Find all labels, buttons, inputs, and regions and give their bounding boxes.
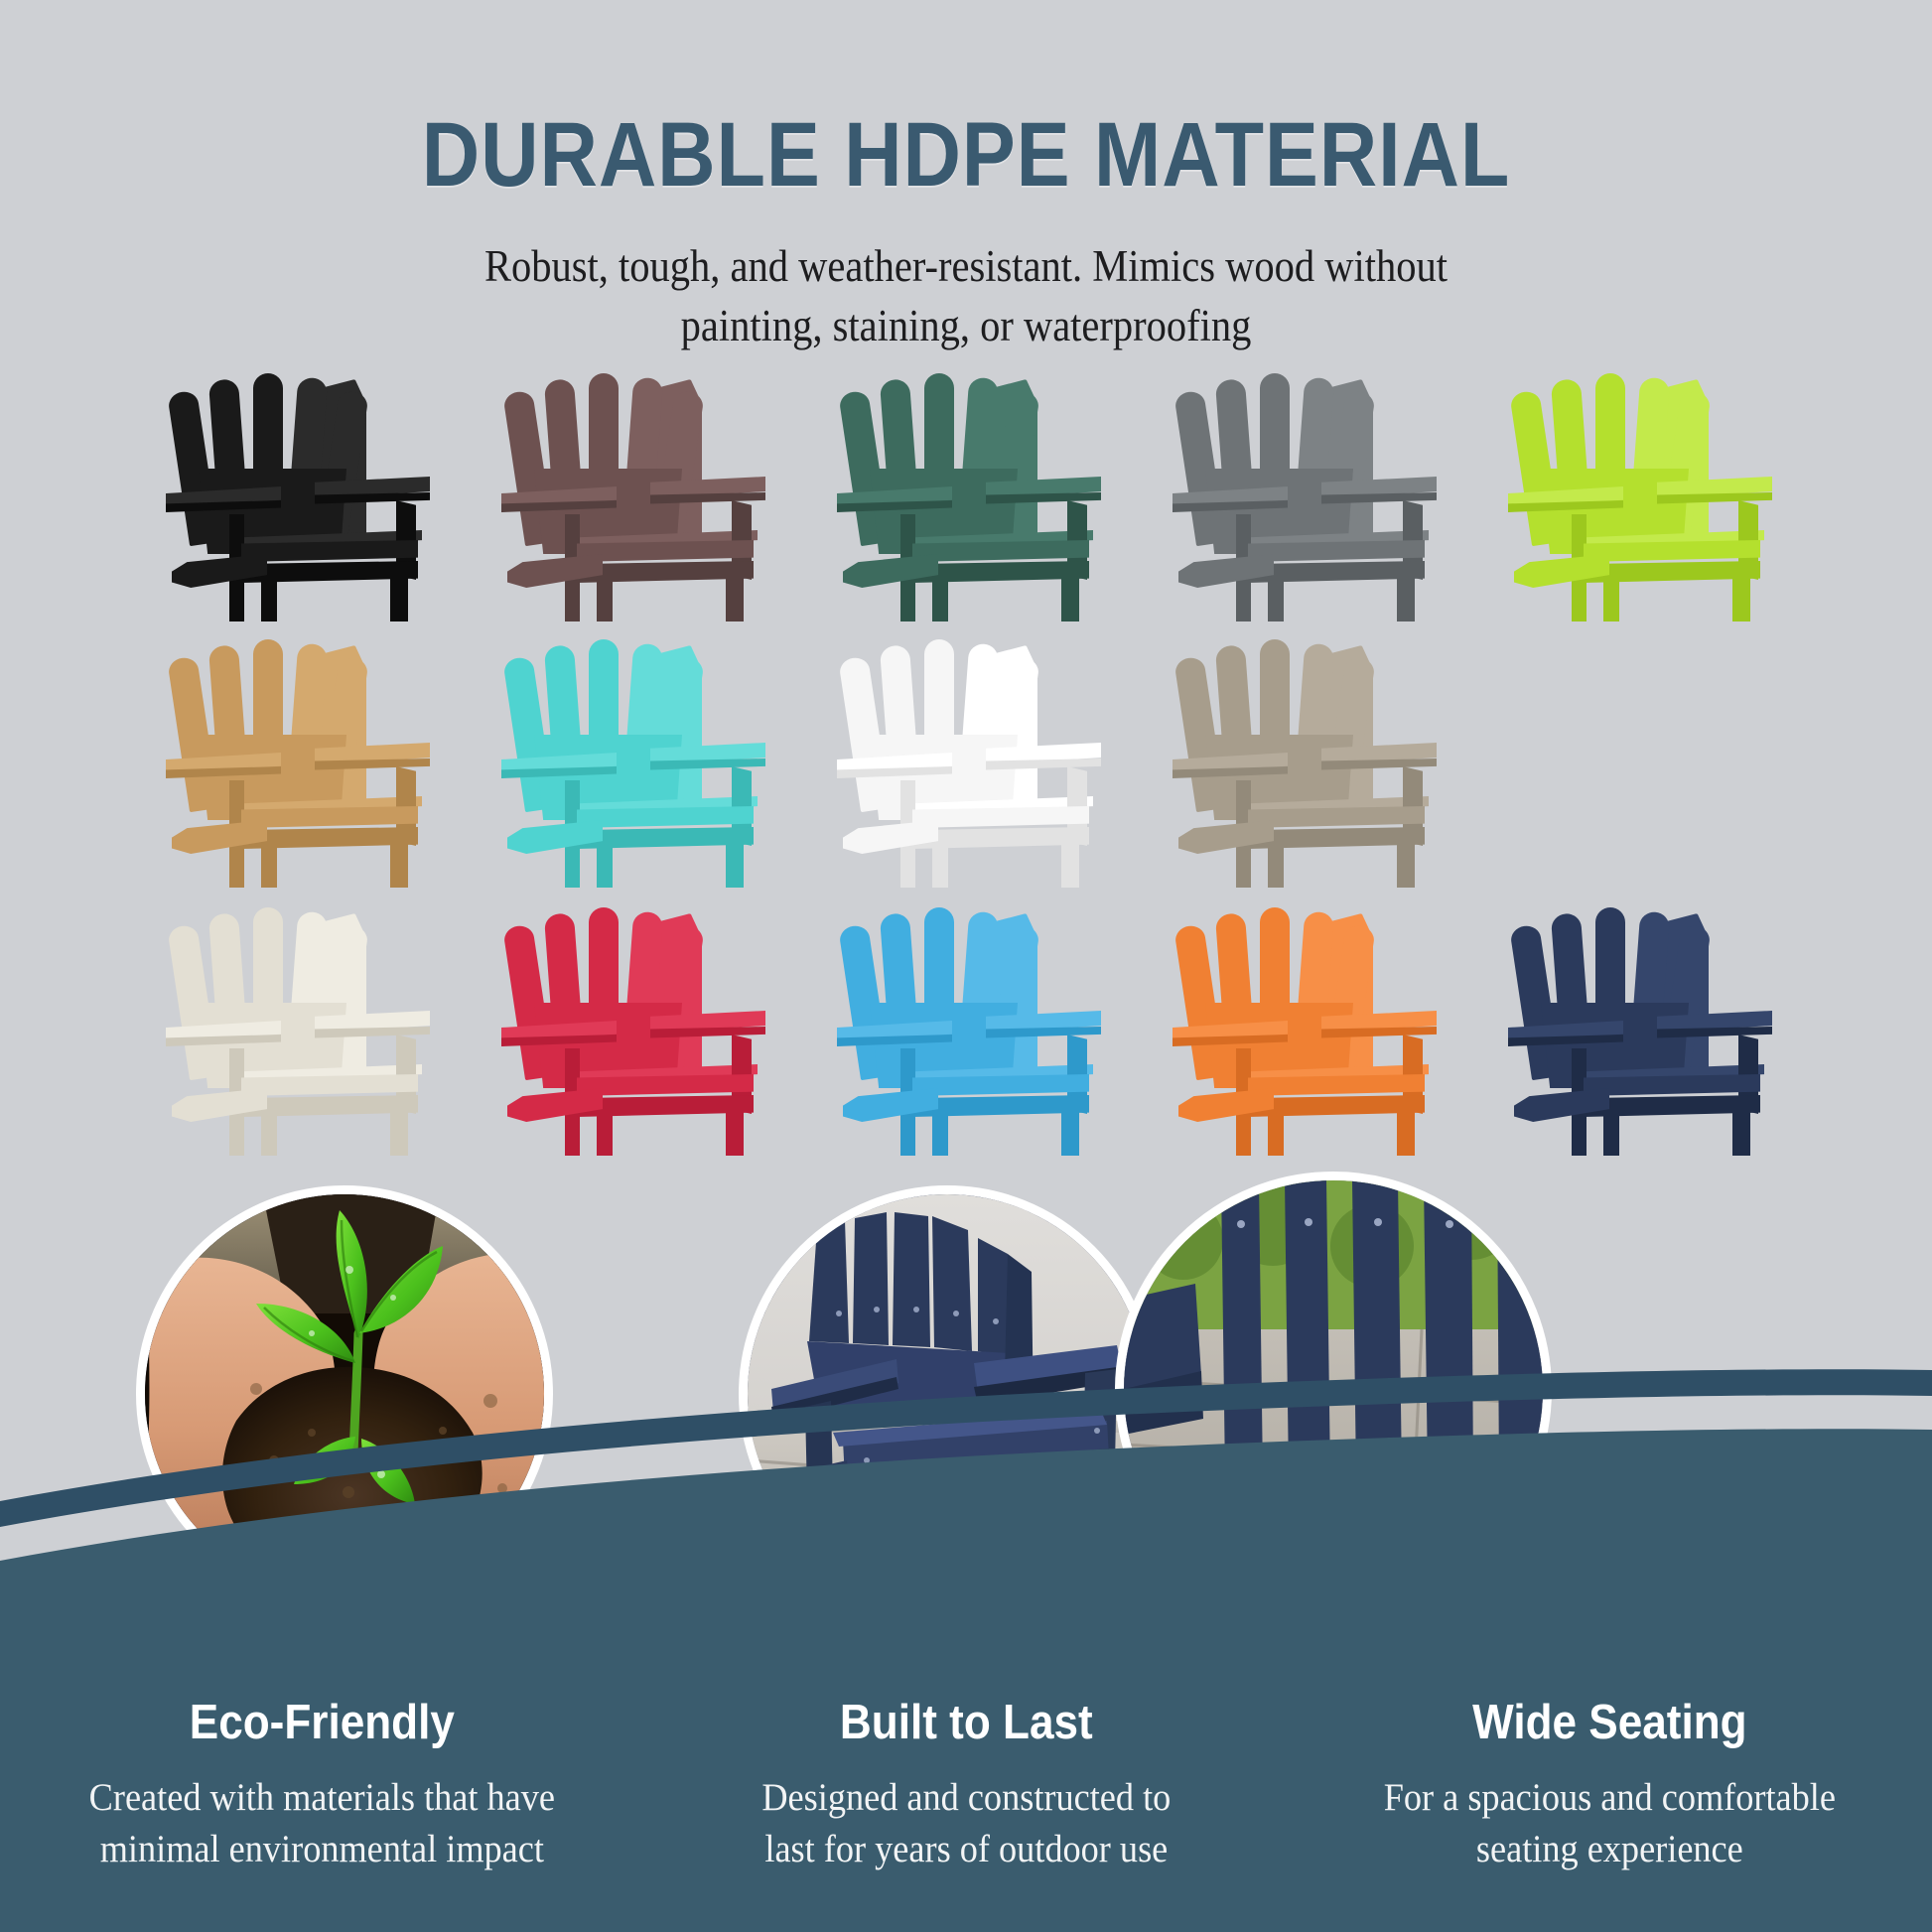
adirondack-chair (166, 365, 424, 621)
chair-leg-back-right (1061, 1104, 1079, 1156)
chair-leg-back-left (1268, 842, 1284, 888)
chair-leg-back-right (390, 570, 408, 621)
adirondack-chair (501, 365, 759, 621)
chair-seat-apron-upper (577, 806, 754, 828)
chair-leg-back-right (1397, 570, 1415, 621)
feature-desc-built: Designed and constructed to last for yea… (691, 1772, 1242, 1874)
header: DURABLE HDPE MATERIAL Robust, tough, and… (0, 0, 1932, 356)
chair-swatch-white[interactable] (837, 631, 1095, 888)
adirondack-chair (837, 365, 1095, 621)
chair-seat-apron-upper (1248, 540, 1425, 562)
chair-leg-back-left (1268, 1110, 1284, 1156)
chair-leg-back-left (1603, 576, 1619, 621)
chair-leg-back-right (1061, 570, 1079, 621)
chair-base-runner (507, 1088, 603, 1122)
chair-seat-apron-upper (241, 1074, 418, 1096)
chair-leg-back-right (1061, 836, 1079, 888)
chair-seat-apron-upper (241, 806, 418, 828)
chair-leg-back-left (261, 576, 277, 621)
feature-desc-built-line2: last for years of outdoor use (764, 1828, 1168, 1870)
chair-seat-apron-upper (577, 1074, 754, 1096)
chair-base-runner (172, 554, 267, 588)
chair-swatch-turquoise[interactable] (501, 631, 759, 888)
chair-leg-back-left (597, 576, 613, 621)
chair-base-runner (843, 554, 938, 588)
feature-desc-wide: For a spacious and comfortable seating e… (1334, 1772, 1885, 1874)
adirondack-chair (166, 631, 424, 888)
adirondack-chair (501, 899, 759, 1156)
feature-title-eco: Eco-Friendly (56, 1695, 589, 1750)
feature-desc-eco-line2: minimal environmental impact (100, 1828, 544, 1870)
chair-seat-apron-upper (241, 540, 418, 562)
feature-title-wide: Wide Seating (1343, 1695, 1876, 1750)
chair-row-1 (0, 365, 1932, 621)
feature-eco-friendly: Eco-Friendly Created with materials that… (0, 1695, 644, 1874)
chair-swatch-dark-green[interactable] (837, 365, 1095, 621)
feature-wide-seating: Wide Seating For a spacious and comforta… (1288, 1695, 1932, 1874)
chair-leg-back-left (1603, 1110, 1619, 1156)
chair-base-runner (172, 1088, 267, 1122)
chair-base-runner (843, 820, 938, 854)
chair-swatch-teak[interactable] (166, 631, 424, 888)
feature-built-to-last: Built to Last Designed and constructed t… (644, 1695, 1289, 1874)
chair-leg-back-left (932, 576, 948, 621)
feature-title-built: Built to Last (700, 1695, 1233, 1750)
chair-leg-back-right (390, 1104, 408, 1156)
chair-base-runner (1514, 554, 1609, 588)
adirondack-chair (1173, 899, 1431, 1156)
page-subtitle: Robust, tough, and weather-resistant. Mi… (96, 237, 1835, 356)
subtitle-line-2: painting, staining, or waterproofing (96, 297, 1835, 356)
chair-leg-back-left (261, 1110, 277, 1156)
feature-desc-built-line1: Designed and constructed to (761, 1776, 1171, 1819)
chair-base-runner (1514, 1088, 1609, 1122)
chair-row-2 (0, 631, 1932, 888)
chair-seat-apron-upper (577, 540, 754, 562)
chair-swatch-red[interactable] (501, 899, 759, 1156)
chair-leg-back-right (1732, 570, 1750, 621)
chair-base-runner (1178, 1088, 1274, 1122)
footer-band: Eco-Friendly Created with materials that… (0, 1326, 1932, 1932)
chair-leg-back-right (1397, 1104, 1415, 1156)
feature-desc-wide-line2: seating experience (1476, 1828, 1743, 1870)
chair-swatch-lime-green[interactable] (1508, 365, 1766, 621)
chair-leg-back-right (1397, 836, 1415, 888)
chair-row-3 (0, 899, 1932, 1156)
chair-leg-back-right (726, 1104, 744, 1156)
chair-seat-apron-upper (1248, 1074, 1425, 1096)
chair-leg-back-left (597, 1110, 613, 1156)
chair-seat-apron-upper (912, 540, 1089, 562)
adirondack-chair (837, 631, 1095, 888)
chair-swatch-navy-blue[interactable] (1508, 899, 1766, 1156)
adirondack-chair (1173, 631, 1431, 888)
adirondack-chair (1508, 899, 1766, 1156)
chair-leg-back-right (1732, 1104, 1750, 1156)
chair-leg-back-left (932, 842, 948, 888)
chair-leg-back-left (597, 842, 613, 888)
chair-leg-back-right (726, 570, 744, 621)
chair-swatch-sky-blue[interactable] (837, 899, 1095, 1156)
adirondack-chair (837, 899, 1095, 1156)
chair-seat-apron-upper (1584, 540, 1760, 562)
chair-leg-back-left (261, 842, 277, 888)
feature-desc-wide-line1: For a spacious and comfortable (1384, 1776, 1836, 1819)
chair-seat-apron-upper (1584, 1074, 1760, 1096)
chair-base-runner (507, 820, 603, 854)
chair-swatch-black[interactable] (166, 365, 424, 621)
chair-seat-apron-upper (912, 1074, 1089, 1096)
subtitle-line-1: Robust, tough, and weather-resistant. Mi… (96, 237, 1835, 297)
feature-desc-eco: Created with materials that have minimal… (47, 1772, 598, 1874)
chair-swatch-brown[interactable] (501, 365, 759, 621)
chair-base-runner (1178, 554, 1274, 588)
chair-base-runner (843, 1088, 938, 1122)
feature-captions: Eco-Friendly Created with materials that… (0, 1505, 1932, 1932)
chair-swatch-weathered-wood[interactable] (1173, 631, 1431, 888)
chair-swatch-ivory[interactable] (166, 899, 424, 1156)
chair-color-grid (0, 365, 1932, 1156)
adirondack-chair (501, 631, 759, 888)
caption-row: Eco-Friendly Created with materials that… (0, 1695, 1932, 1874)
chair-leg-back-right (390, 836, 408, 888)
chair-base-runner (172, 820, 267, 854)
chair-leg-back-right (726, 836, 744, 888)
page-title: DURABLE HDPE MATERIAL (116, 103, 1816, 207)
chair-swatch-orange[interactable] (1173, 899, 1431, 1156)
chair-seat-apron-upper (912, 806, 1089, 828)
adirondack-chair (1173, 365, 1431, 621)
adirondack-chair (1508, 365, 1766, 621)
chair-leg-back-left (1268, 576, 1284, 621)
feature-desc-eco-line1: Created with materials that have (89, 1776, 555, 1819)
chair-swatch-gray[interactable] (1173, 365, 1431, 621)
chair-base-runner (1178, 820, 1274, 854)
chair-seat-apron-upper (1248, 806, 1425, 828)
chair-leg-back-left (932, 1110, 948, 1156)
adirondack-chair (166, 899, 424, 1156)
chair-base-runner (507, 554, 603, 588)
